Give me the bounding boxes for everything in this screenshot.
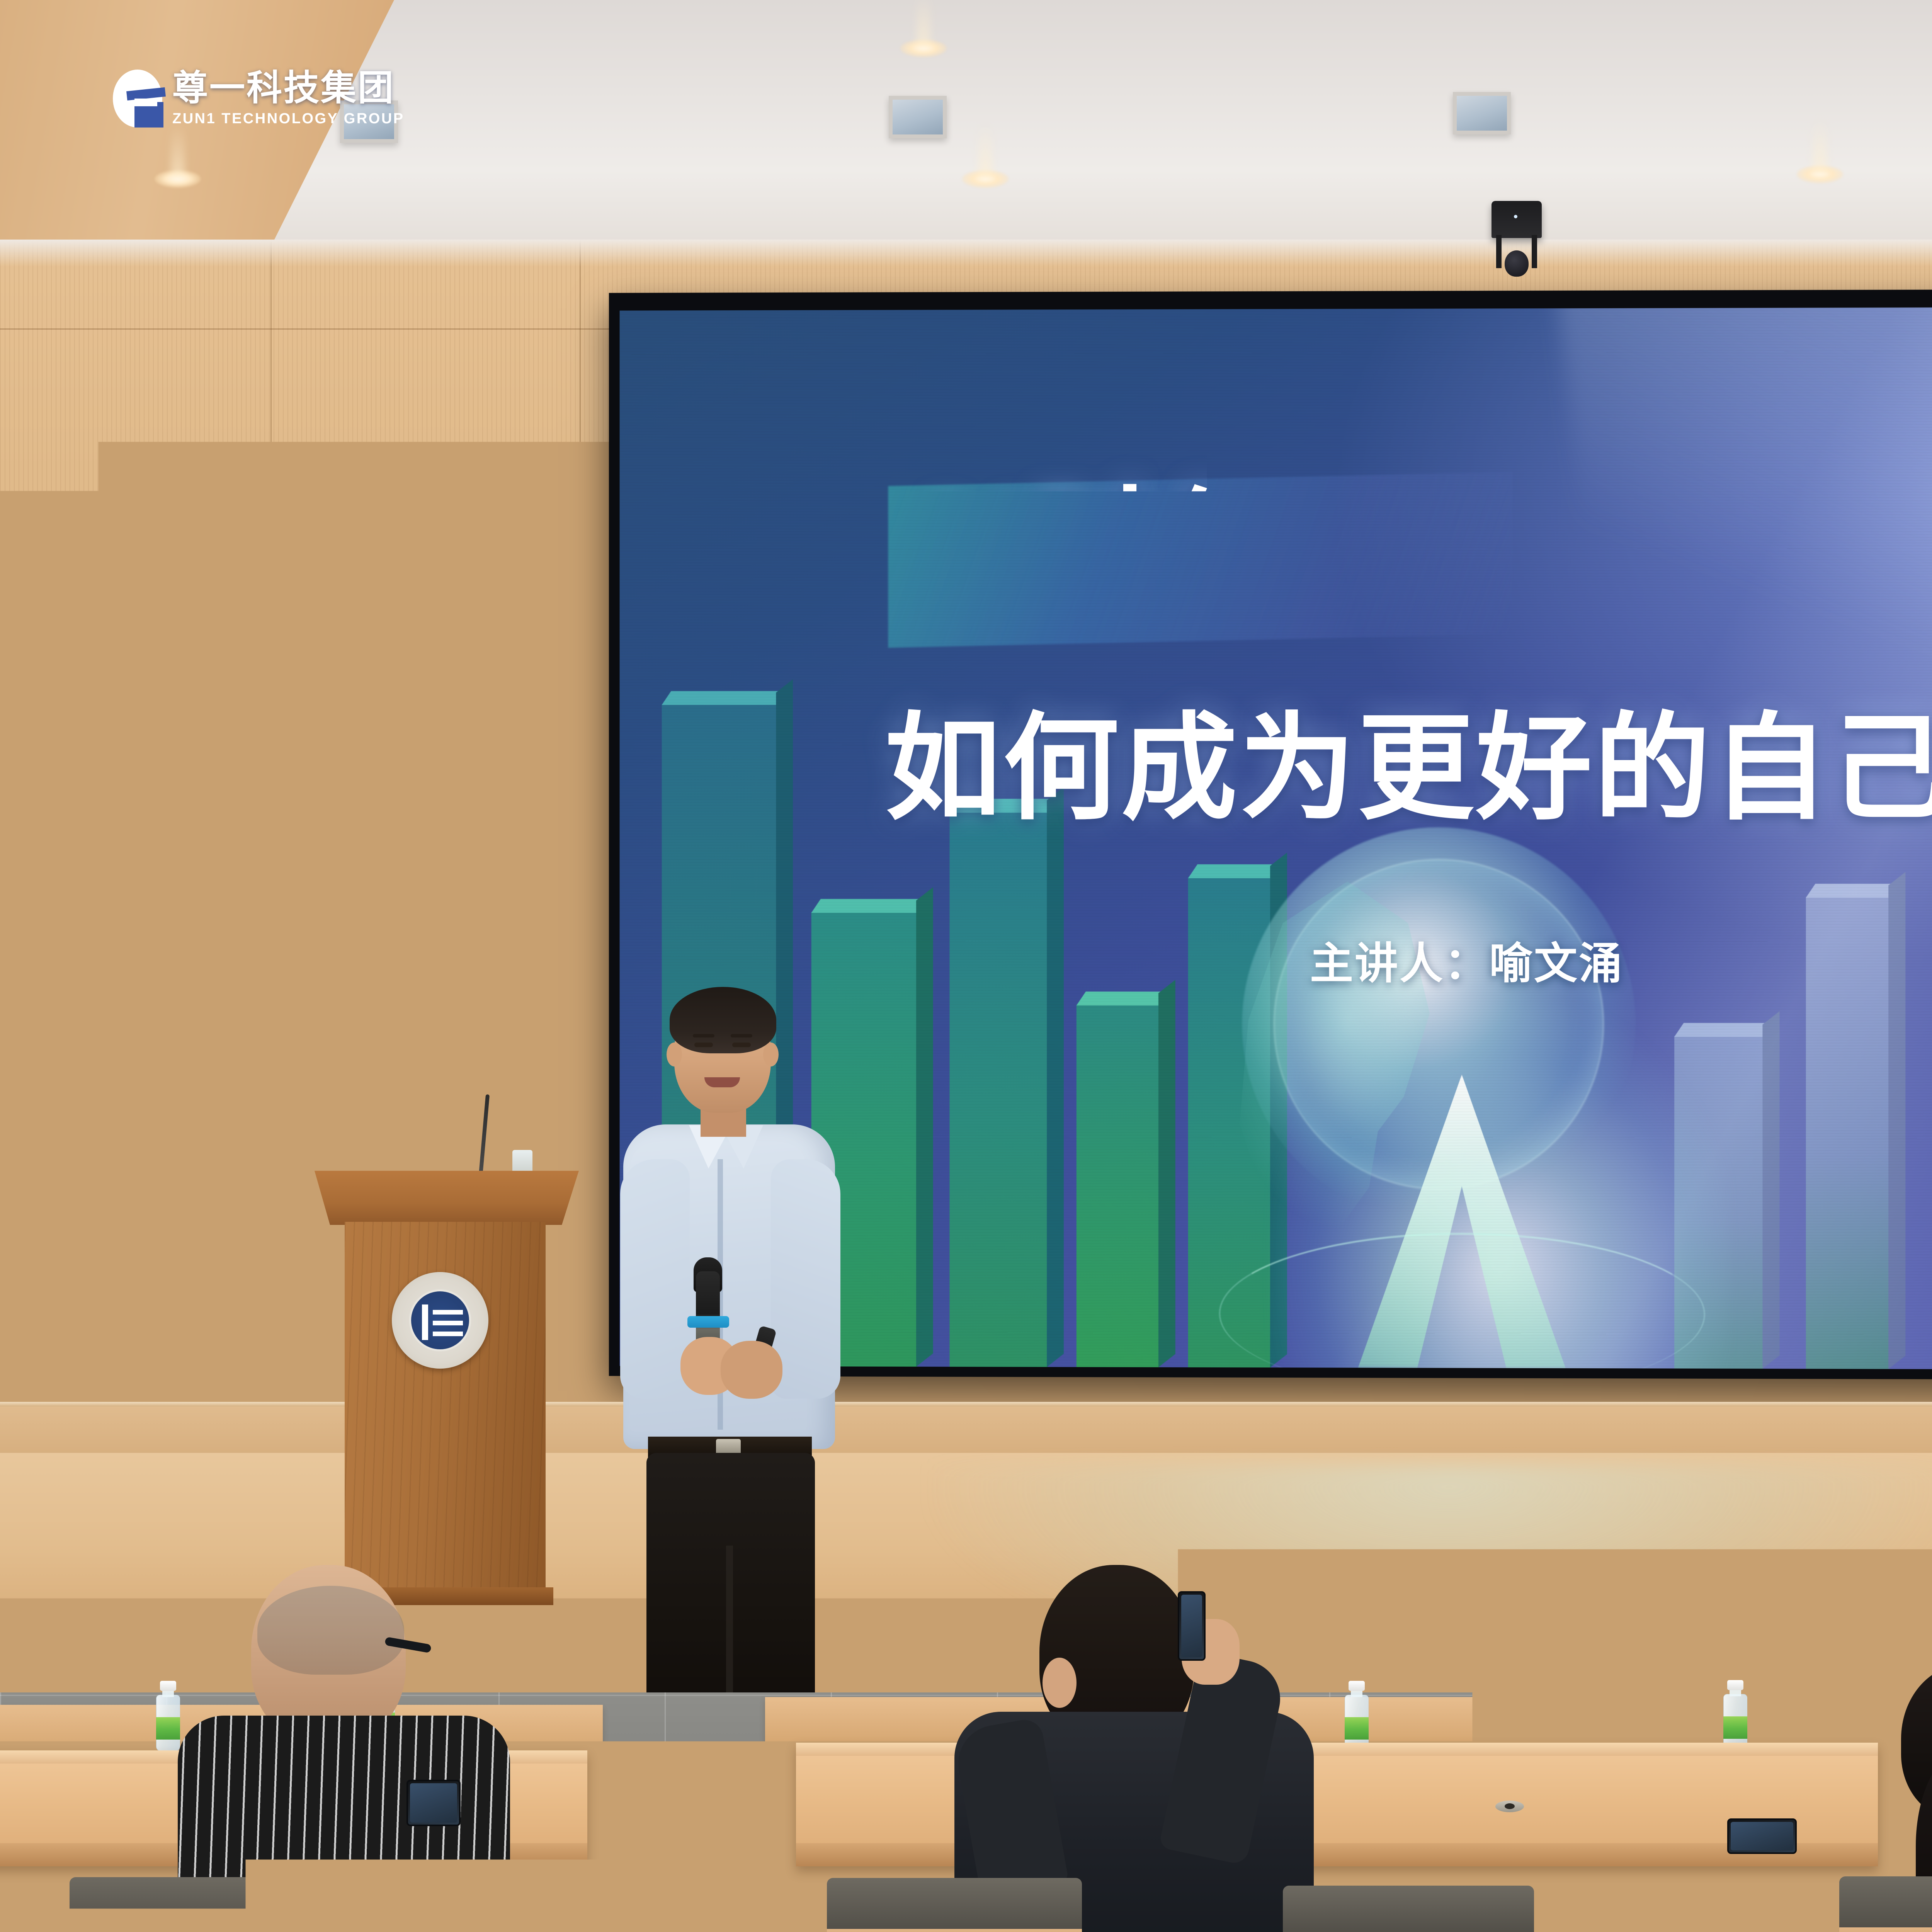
presenter-eye <box>694 1043 713 1047</box>
audience-chair[interactable] <box>70 1877 305 1932</box>
smartphone-held[interactable] <box>1178 1591 1206 1661</box>
presenter-eye <box>732 1043 751 1047</box>
slide-title-line1: AI时代： <box>902 485 1409 608</box>
chair-wood-trim <box>827 1929 1082 1932</box>
presenter-mouth <box>704 1077 740 1087</box>
presenter-ear <box>667 1043 682 1066</box>
wall-speaker-icon <box>216 699 252 735</box>
podium-top-surface <box>315 1171 579 1225</box>
smartphone-held[interactable] <box>406 1780 461 1826</box>
ceiling-downlight <box>1797 165 1843 183</box>
water-bottle <box>1723 1681 1747 1750</box>
ptz-camera-icon <box>1492 201 1542 238</box>
slide-ai-graphic <box>1173 823 1752 1371</box>
g-logo-icon <box>113 70 162 128</box>
ceiling-downlight <box>900 39 947 57</box>
desk-cable-port <box>1495 1801 1524 1812</box>
water-bottle <box>1345 1682 1369 1751</box>
audience-chair[interactable] <box>1283 1886 1534 1932</box>
smartphone-on-desk[interactable] <box>1727 1818 1797 1854</box>
microphone-blue-band <box>687 1316 729 1328</box>
slide-bar <box>1806 897 1889 1369</box>
presenter-eyebrow <box>731 1034 752 1037</box>
chair-wood-trim <box>70 1928 305 1932</box>
slide-speaker-line: 主讲人：喻文涌 <box>1310 942 1624 985</box>
presenter-leg-seam <box>726 1546 733 1708</box>
audience-chair[interactable] <box>1839 1876 1932 1932</box>
ceiling-vent <box>889 96 947 138</box>
college-seal-icon <box>392 1272 488 1369</box>
audience-hair <box>257 1586 404 1675</box>
slide-logo-en: ZUN1 TECHNOLOGY GROUP <box>172 111 405 127</box>
wall-power-outlet[interactable] <box>568 1318 590 1337</box>
audience-chair[interactable] <box>827 1878 1082 1932</box>
wall-ceiling-transition <box>0 240 1932 267</box>
ceiling-downlight <box>155 170 201 188</box>
slide-bar <box>1077 1005 1159 1367</box>
wall-seam <box>580 240 581 1468</box>
podium <box>331 1171 563 1615</box>
presenter-right-hand <box>721 1341 782 1399</box>
audience-ear <box>1043 1658 1077 1708</box>
presenter <box>605 978 856 1673</box>
presenter-left-arm <box>620 1159 690 1399</box>
lecture-hall-scene: 尊一科技集团 ZUN1 TECHNOLOGY GROUP AI时代： 如何成为更… <box>0 0 1932 1932</box>
presenter-hair <box>670 987 776 1053</box>
chair-wood-trim <box>1839 1927 1932 1932</box>
wall-seam <box>270 240 272 1468</box>
ceiling-vent <box>1453 92 1511 134</box>
ceiling-downlight <box>962 170 1009 188</box>
slide-logo-cn: 尊一科技集团 <box>172 70 405 106</box>
presenter-eyebrow <box>693 1034 714 1037</box>
desk-row-back <box>765 1697 1874 1743</box>
slide-logo: 尊一科技集团 ZUN1 TECHNOLOGY GROUP <box>113 70 405 128</box>
slide-bar <box>949 812 1048 1367</box>
audience-front-center <box>954 1542 1318 1932</box>
slide-title-line2: 如何成为更好的自己？ <box>885 710 1932 826</box>
audience-chair[interactable] <box>332 1886 560 1932</box>
presenter-ear <box>763 1043 779 1066</box>
